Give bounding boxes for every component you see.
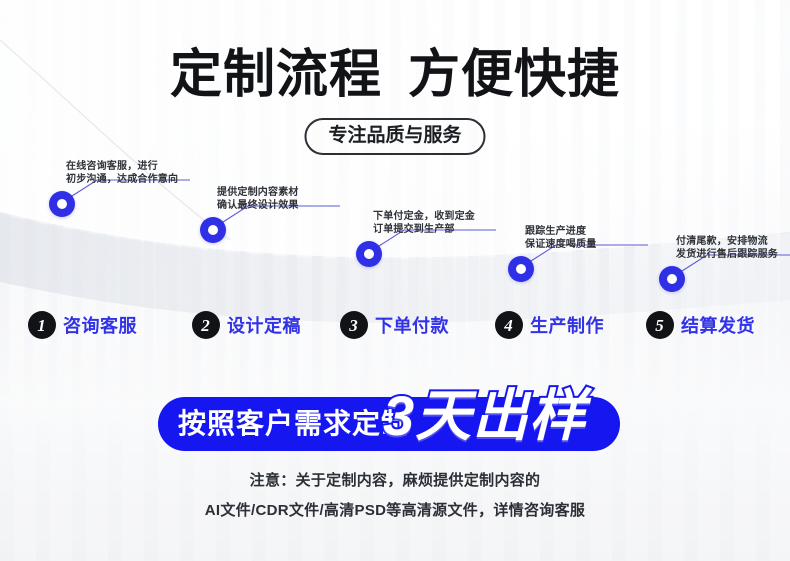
footer-note-line1: 注意：关于定制内容，麻烦提供定制内容的 bbox=[0, 466, 790, 496]
step-item-5[interactable]: 5 结算发货 bbox=[646, 311, 755, 339]
timeline-desc-3-line2: 订单提交到生产部 bbox=[373, 223, 475, 236]
timeline-desc-5-line2: 发货进行售后跟踪服务 bbox=[676, 248, 778, 261]
step-item-4[interactable]: 4 生产制作 bbox=[495, 311, 604, 339]
timeline-desc-4-line1: 跟踪生产进度 bbox=[525, 225, 596, 238]
promo-highlight-text: 3天出样 bbox=[383, 385, 586, 447]
timeline-marker-icon-3 bbox=[356, 241, 382, 267]
step-label-2: 设计定稿 bbox=[227, 312, 301, 338]
step-label-3: 下单付款 bbox=[375, 312, 449, 338]
promo-banner: 按照客户需求定制 3天出样 bbox=[0, 382, 790, 460]
timeline-desc-2-line2: 确认最终设计效果 bbox=[217, 199, 299, 212]
step-label-5: 结算发货 bbox=[681, 312, 755, 338]
timeline-desc-2: 提供定制内容素材 确认最终设计效果 bbox=[217, 186, 299, 212]
step-number-3: 3 bbox=[340, 311, 368, 339]
promo-page: 定制流程方便快捷 专注品质与服务 在线咨询客服，进行 初步沟通，达成合作意向 bbox=[0, 0, 790, 561]
step-label-4: 生产制作 bbox=[530, 312, 604, 338]
timeline-desc-4-line2: 保证速度喝质量 bbox=[525, 238, 596, 251]
timeline-marker-icon-1 bbox=[49, 191, 75, 217]
promo-left-text: 按照客户需求定制 bbox=[178, 409, 410, 439]
timeline-desc-1-line2: 初步沟通，达成合作意向 bbox=[66, 173, 178, 186]
step-item-2[interactable]: 2 设计定稿 bbox=[192, 311, 301, 339]
timeline-desc-1-line1: 在线咨询客服，进行 bbox=[66, 160, 178, 173]
footer-note-line2: AI文件/CDR文件/高清PSD等高清源文件，详情咨询客服 bbox=[0, 496, 790, 526]
timeline-desc-1: 在线咨询客服，进行 初步沟通，达成合作意向 bbox=[66, 160, 178, 186]
timeline-desc-4: 跟踪生产进度 保证速度喝质量 bbox=[525, 225, 596, 251]
timeline-desc-2-line1: 提供定制内容素材 bbox=[217, 186, 299, 199]
step-number-4: 4 bbox=[495, 311, 523, 339]
timeline-desc-5: 付清尾款，安排物流 发货进行售后跟踪服务 bbox=[676, 235, 778, 261]
step-number-2: 2 bbox=[192, 311, 220, 339]
step-label-row: 1 咨询客服 2 设计定稿 3 下单付款 4 生产制作 5 结算发货 bbox=[0, 305, 790, 351]
step-number-5: 5 bbox=[646, 311, 674, 339]
step-label-1: 咨询客服 bbox=[63, 312, 137, 338]
timeline-marker-icon-2 bbox=[200, 217, 226, 243]
step-item-3[interactable]: 3 下单付款 bbox=[340, 311, 449, 339]
timeline-marker-icon-5 bbox=[659, 266, 685, 292]
step-number-1: 1 bbox=[28, 311, 56, 339]
timeline-desc-3: 下单付定金，收到定金 订单提交到生产部 bbox=[373, 210, 475, 236]
timeline-desc-5-line1: 付清尾款，安排物流 bbox=[676, 235, 778, 248]
timeline-marker-icon-4 bbox=[508, 256, 534, 282]
footer-notes: 注意：关于定制内容，麻烦提供定制内容的 AI文件/CDR文件/高清PSD等高清源… bbox=[0, 466, 790, 526]
timeline-desc-3-line1: 下单付定金，收到定金 bbox=[373, 210, 475, 223]
step-item-1[interactable]: 1 咨询客服 bbox=[28, 311, 137, 339]
